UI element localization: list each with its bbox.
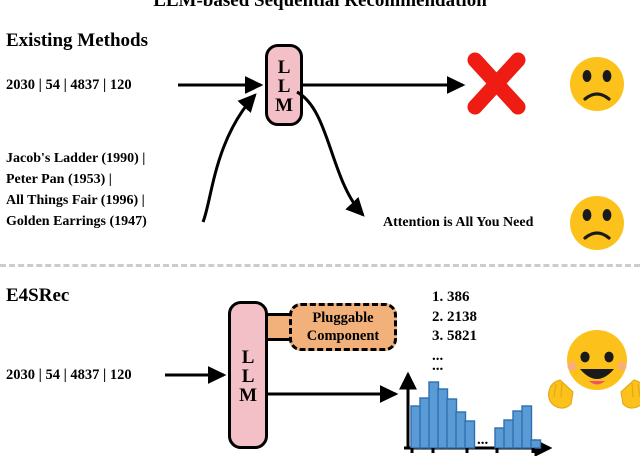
existing-id-sequence: 2030 | 54 | 4837 | 120 [6,77,132,94]
section-divider [0,264,640,267]
ranked-item: 2. 2138 [432,308,477,328]
page-title: LLM-based Sequential Recommendation [0,0,640,12]
probability-distribution-chart: ... ... [404,358,550,453]
e4srec-ranked-items: 1. 386 2. 2138 3. 5821 ... [432,288,477,366]
section-heading-e4srec: E4SRec [6,285,69,307]
hugging-face-emoji [549,330,640,408]
ranked-item: 3. 5821 [432,327,477,347]
title-sequence-line: Golden Earrings (1947) [6,211,147,232]
chart-x-ticks [412,448,533,453]
llm-box-e4srec: LLM [228,301,268,449]
chart-annotation-ellipsis-gap: ... [477,432,489,448]
e4srec-id-sequence: 2030 | 54 | 4837 | 120 [6,367,132,384]
sad-face-emoji [570,57,624,111]
figure-canvas: LLM-based Sequential Recommendation Exis… [0,0,640,456]
title-sequence-line: All Things Fair (1996) | [6,190,147,211]
pluggable-label-line2: Component [307,327,380,345]
ranked-item: ... [432,347,477,367]
pluggable-label-line1: Pluggable [312,309,373,327]
arrow-llm-to-text-output-curved [297,92,363,215]
ranked-item: 1. 386 [432,288,477,308]
sad-face-emoji [570,196,624,250]
title-sequence-line: Jacob's Ladder (1990) | [6,148,147,169]
existing-text-output: Attention is All You Need [383,215,533,231]
title-sequence-line: Peter Pan (1953) | [6,169,147,190]
section-heading-existing: Existing Methods [6,30,148,52]
arrow-titles-to-llm-curved [203,95,255,222]
existing-title-sequence: Jacob's Ladder (1990) | Peter Pan (1953)… [6,148,147,232]
chart-bars [411,382,541,448]
llm-box-label: LLM [276,57,291,114]
llm-box-label: LLM [240,347,255,404]
red-x-icon [475,60,518,107]
pluggable-component-box: Pluggable Component [289,303,397,351]
llm-box-existing: LLM [265,44,303,126]
